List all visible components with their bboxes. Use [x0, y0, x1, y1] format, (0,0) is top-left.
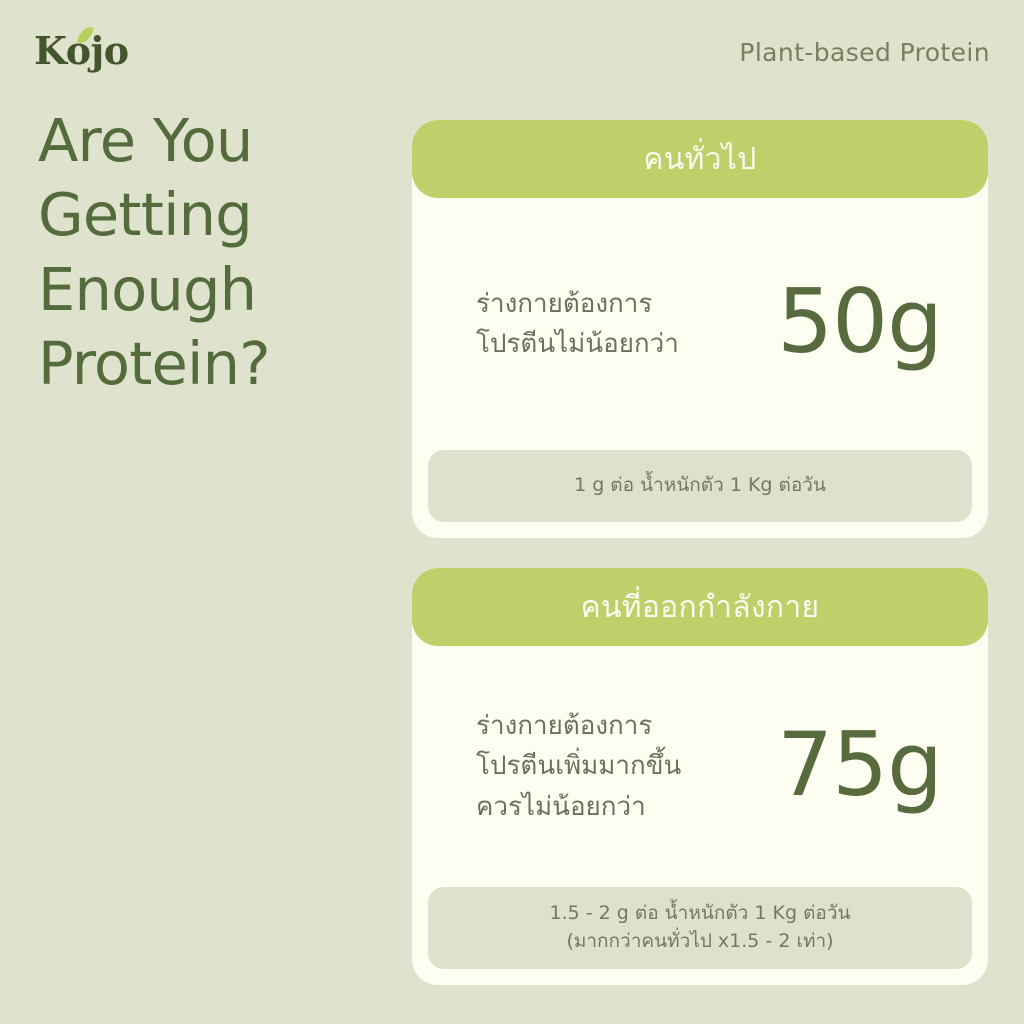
card-description-line-1: ร่างกายต้องการ — [476, 706, 681, 746]
card-header-general: คนทั่วไป — [412, 120, 988, 198]
brand-logo[interactable]: Kojo — [34, 28, 129, 70]
card-body-general: ร่างกายต้องการ โปรตีนไม่น้อยกว่า 50g — [412, 198, 988, 450]
protein-amount: 50g — [777, 278, 942, 370]
protein-amount: 75g — [777, 721, 942, 813]
headline-line-3: Enough — [38, 253, 388, 327]
card-description: ร่างกายต้องการ โปรตีนเพิ่มมากขึ้น ควรไม่… — [476, 706, 681, 827]
protein-cards: คนทั่วไป ร่างกายต้องการ โปรตีนไม่น้อยกว่… — [412, 120, 988, 985]
card-description-line-2: โปรตีนเพิ่มมากขึ้น — [476, 746, 681, 786]
card-description-line-3: ควรไม่น้อยกว่า — [476, 787, 681, 827]
headline-line-1: Are You — [38, 104, 388, 178]
card-description-line-1: ร่างกายต้องการ — [476, 284, 679, 324]
card-footnote-line-1: 1 g ต่อ น้ำหนักตัว 1 Kg ต่อวัน — [574, 472, 826, 500]
card-header-label: คนทั่วไป — [643, 136, 756, 183]
card-description: ร่างกายต้องการ โปรตีนไม่น้อยกว่า — [476, 284, 679, 365]
headline-line-2: Getting — [38, 178, 388, 252]
card-body-active: ร่างกายต้องการ โปรตีนเพิ่มมากขึ้น ควรไม่… — [412, 646, 988, 887]
top-bar: Kojo Plant-based Protein — [0, 0, 1024, 100]
category-kicker: Plant-based Protein — [739, 28, 990, 67]
headline-line-4: Protein? — [38, 327, 388, 401]
card-footnote-active: 1.5 - 2 g ต่อ น้ำหนักตัว 1 Kg ต่อวัน (มา… — [428, 887, 972, 969]
protein-card-active: คนที่ออกกำลังกาย ร่างกายต้องการ โปรตีนเพ… — [412, 568, 988, 985]
card-header-active: คนที่ออกกำลังกาย — [412, 568, 988, 646]
card-footnote-line-2: (มากกว่าคนทั่วไป x1.5 - 2 เท่า) — [566, 928, 833, 956]
card-footnote-line-1: 1.5 - 2 g ต่อ น้ำหนักตัว 1 Kg ต่อวัน — [550, 900, 851, 928]
protein-card-general: คนทั่วไป ร่างกายต้องการ โปรตีนไม่น้อยกว่… — [412, 120, 988, 538]
page-title: Are You Getting Enough Protein? — [38, 104, 388, 401]
infographic-page: { "brand": { "name": "Kojo", "leaf_icon"… — [0, 0, 1024, 1024]
card-description-line-2: โปรตีนไม่น้อยกว่า — [476, 324, 679, 364]
card-footnote-general: 1 g ต่อ น้ำหนักตัว 1 Kg ต่อวัน — [428, 450, 972, 522]
card-header-label: คนที่ออกกำลังกาย — [581, 584, 820, 631]
